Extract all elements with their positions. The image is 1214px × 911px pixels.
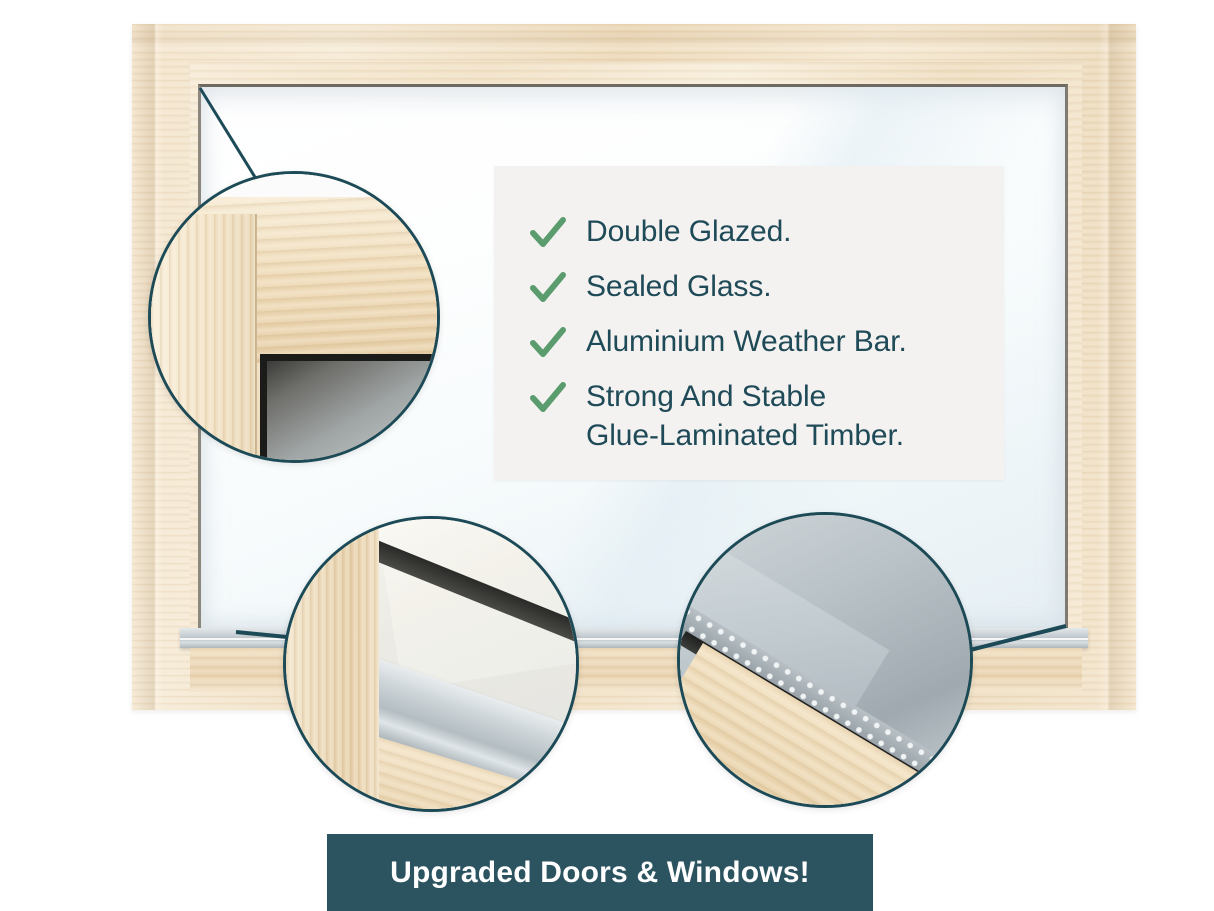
feature-item: Sealed Glass. [528, 267, 988, 308]
magnifier-perforated-strip-image [680, 515, 970, 805]
feature-label: Double Glazed. [586, 212, 791, 251]
weatherbar-left-timber [286, 519, 379, 809]
feature-label: Aluminium Weather Bar. [586, 322, 907, 361]
feature-label: Sealed Glass. [586, 267, 771, 306]
features-list: Double Glazed. Sealed Glass. Aluminium W… [528, 212, 988, 455]
weatherbar-glass [373, 516, 579, 691]
check-icon [528, 213, 568, 253]
magnifier-weather-bar-image [286, 519, 576, 809]
magnifier-weather-bar [283, 516, 579, 812]
promo-graphic: Double Glazed. Sealed Glass. Aluminium W… [0, 0, 1214, 911]
magnifier-corner-joint-image [151, 174, 437, 460]
feature-item: Strong And Stable Glue-Laminated Timber. [528, 377, 988, 455]
promo-banner: Upgraded Doors & Windows! [327, 834, 873, 911]
promo-banner-label: Upgraded Doors & Windows! [390, 856, 810, 890]
check-icon [528, 323, 568, 363]
joint-left-timber [151, 214, 257, 460]
magnifier-perforated-strip [677, 512, 973, 808]
feature-label: Strong And Stable Glue-Laminated Timber. [586, 377, 904, 455]
check-icon [528, 378, 568, 418]
magnifier-corner-joint [148, 171, 440, 463]
check-icon [528, 268, 568, 308]
feature-item: Double Glazed. [528, 212, 988, 253]
feature-item: Aluminium Weather Bar. [528, 322, 988, 363]
features-panel: Double Glazed. Sealed Glass. Aluminium W… [494, 166, 1004, 480]
joint-glass-pocket [260, 354, 437, 460]
